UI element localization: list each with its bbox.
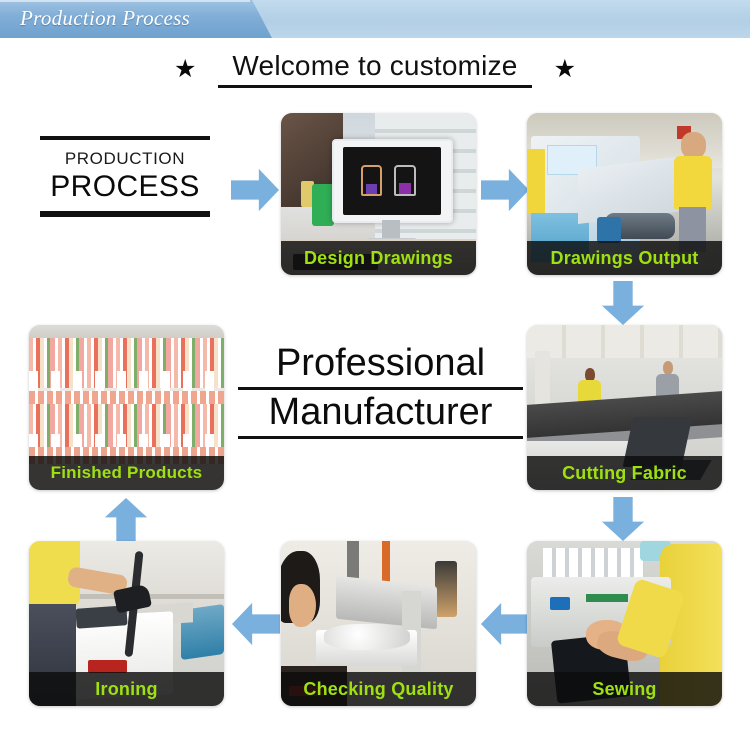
- arrow-up-to-finished: [104, 498, 148, 542]
- star-left-icon: ★: [174, 57, 196, 82]
- headline-rule-bottom: [238, 436, 523, 439]
- step-caption-cutting-fabric: Cutting Fabric: [527, 456, 722, 490]
- step-caption-checking-quality: Checking Quality: [281, 672, 476, 706]
- arrow-left-to-checking: [481, 602, 529, 646]
- step-caption-finished-products: Finished Products: [29, 456, 224, 490]
- welcome-row: ★ Welcome to customize ★: [0, 48, 750, 90]
- welcome-text: Welcome to customize: [218, 50, 531, 88]
- arrow-down-to-cutting: [601, 281, 645, 325]
- headline-line-1: Professional: [238, 344, 523, 384]
- wordmark-rule-bottom: [40, 211, 210, 217]
- star-right-icon: ★: [554, 57, 576, 82]
- step-caption-design-drawings: Design Drawings: [281, 241, 476, 275]
- step-caption-ironing: Ironing: [29, 672, 224, 706]
- wordmark-rule-top: [40, 136, 210, 140]
- production-process-infographic: Production Process ★ Welcome to customiz…: [0, 0, 750, 730]
- step-caption-sewing: Sewing: [527, 672, 722, 706]
- step-card-drawings-output[interactable]: Drawings Output: [527, 113, 722, 275]
- page-title: Production Process: [20, 6, 190, 31]
- step-card-finished-products[interactable]: Finished Products: [29, 325, 224, 490]
- step-card-cutting-fabric[interactable]: Cutting Fabric: [527, 325, 722, 490]
- header-banner: Production Process: [0, 0, 750, 38]
- production-process-wordmark: PRODUCTION PROCESS: [40, 136, 210, 217]
- step-card-sewing[interactable]: Sewing: [527, 541, 722, 706]
- arrow-down-to-sewing: [601, 497, 645, 541]
- step-card-ironing[interactable]: Ironing: [29, 541, 224, 706]
- wordmark-line-1: PRODUCTION: [40, 149, 210, 169]
- arrow-right-to-output: [481, 168, 529, 212]
- arrow-left-to-ironing: [232, 602, 280, 646]
- step-caption-drawings-output: Drawings Output: [527, 241, 722, 275]
- step-card-design-drawings[interactable]: Design Drawings: [281, 113, 476, 275]
- step-card-checking-quality[interactable]: Checking Quality: [281, 541, 476, 706]
- headline-line-2: Manufacturer: [238, 393, 523, 433]
- headline-rule-middle: [238, 387, 523, 390]
- wordmark-line-2: PROCESS: [40, 170, 210, 204]
- arrow-right-to-design: [231, 168, 279, 212]
- professional-manufacturer-headline: Professional Manufacturer: [238, 344, 523, 442]
